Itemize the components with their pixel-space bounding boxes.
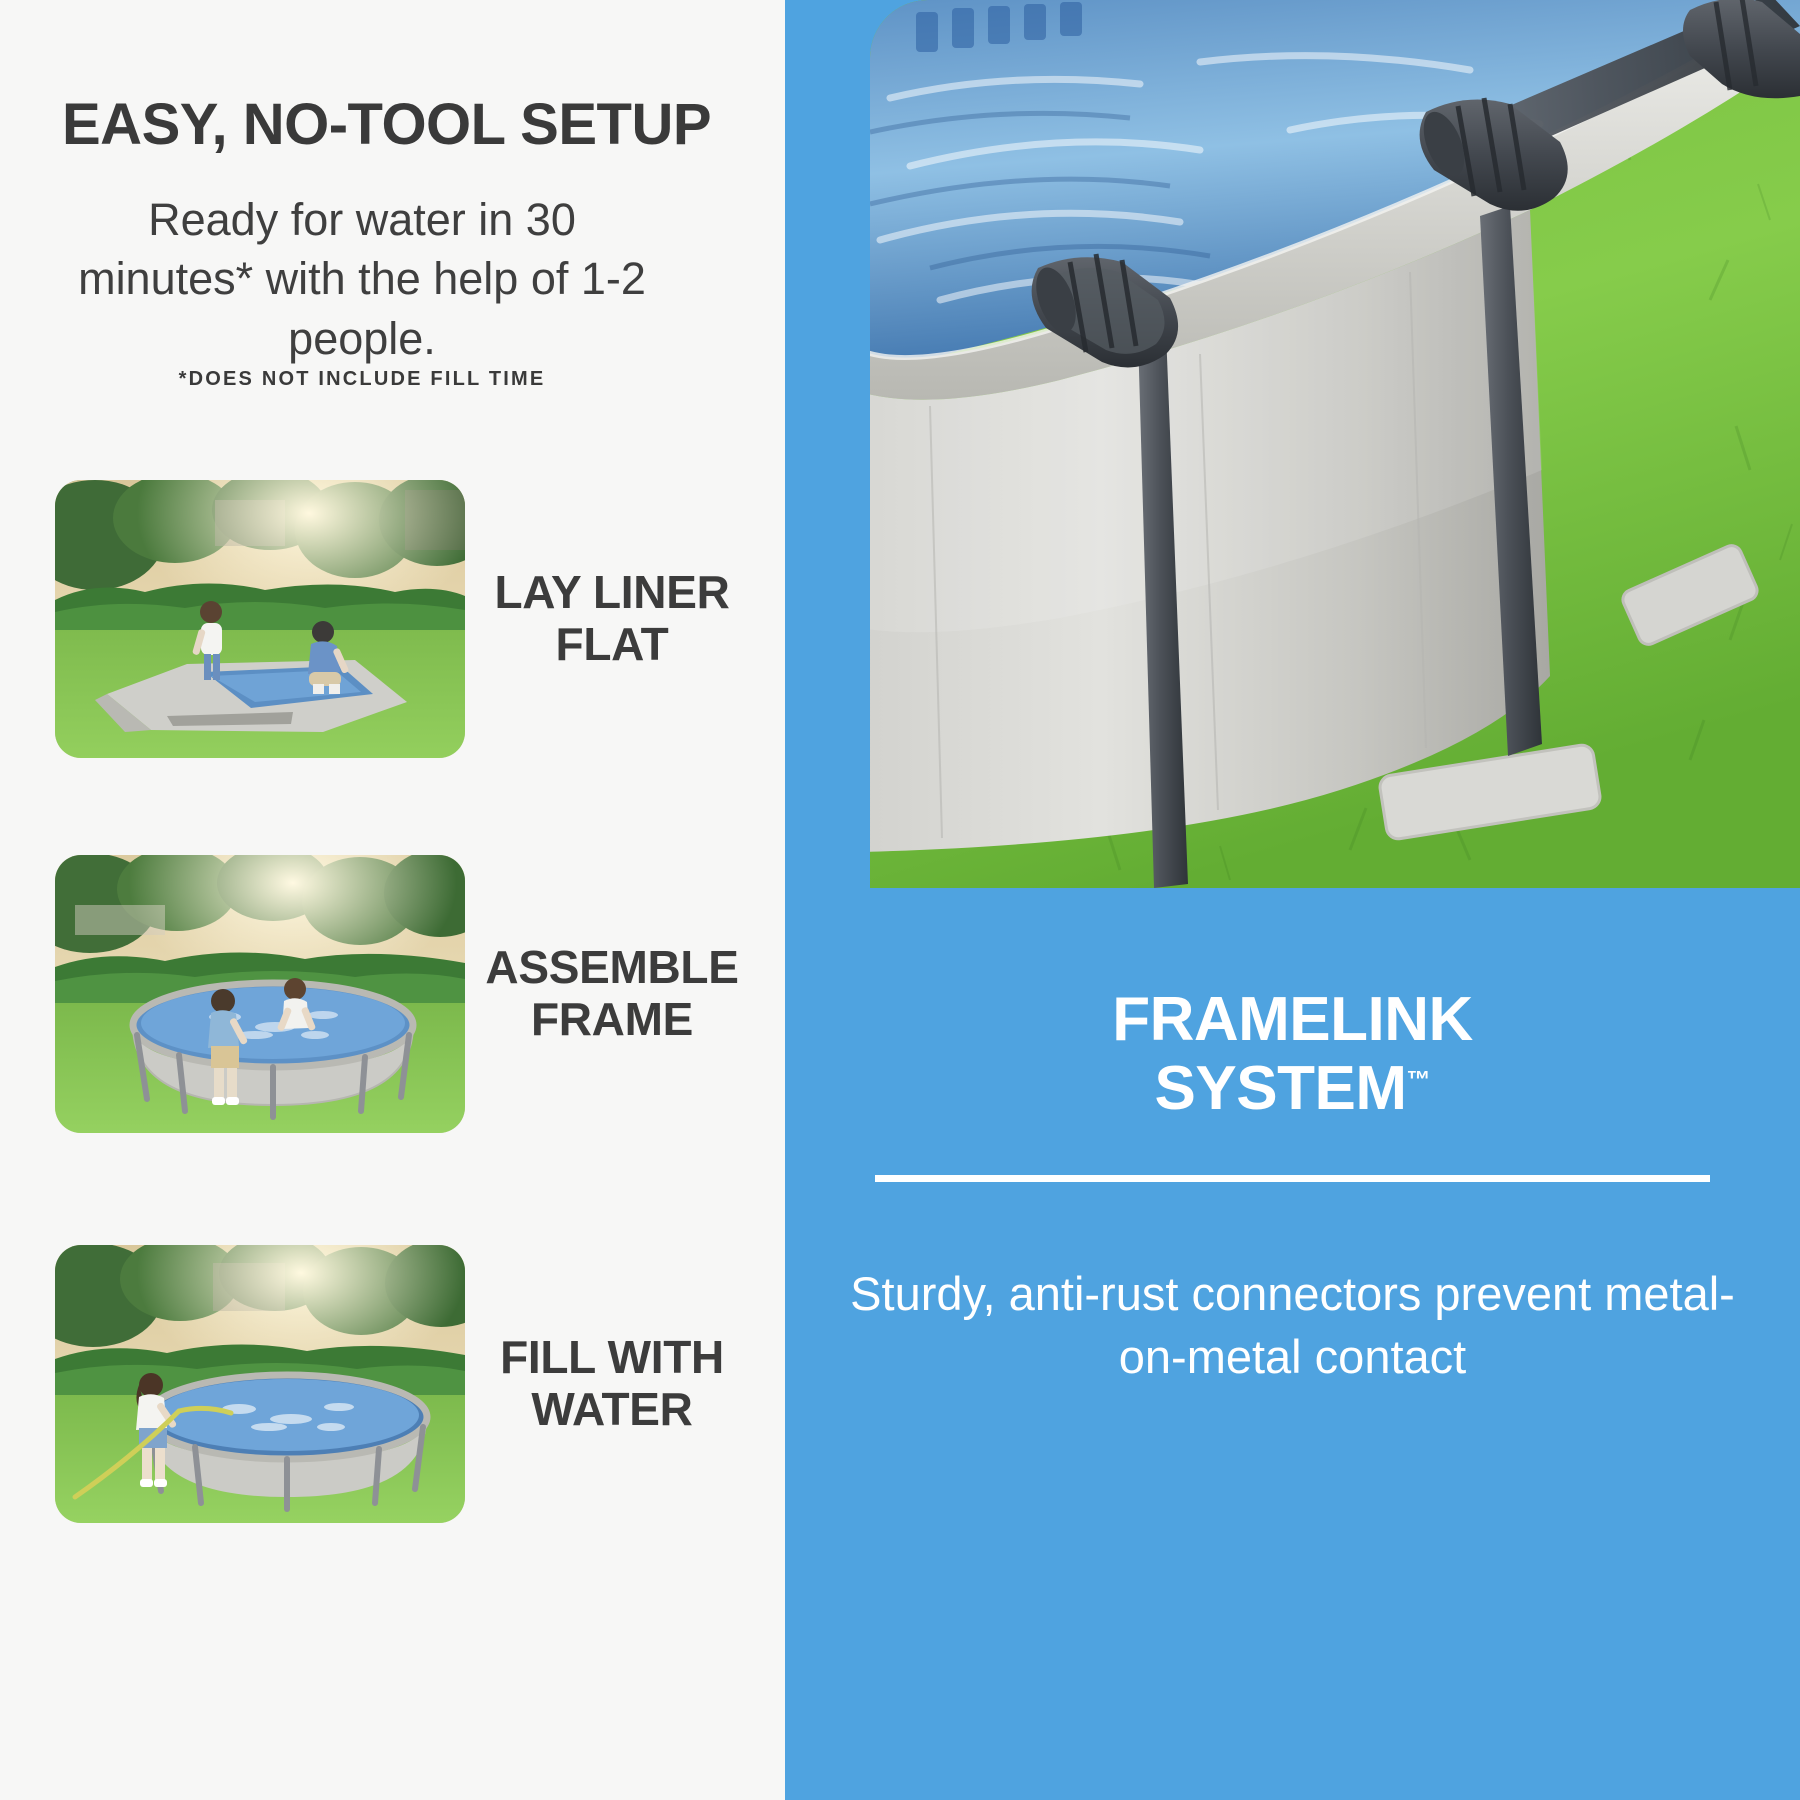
step-label-lay-liner-flat: LAY LINER FLAT <box>465 567 755 670</box>
step-item-assemble-frame: ASSEMBLE FRAME <box>55 855 755 1133</box>
step-label-assemble-frame: ASSEMBLE FRAME <box>465 942 755 1045</box>
step-item-lay-liner-flat: LAY LINER FLAT <box>55 480 755 758</box>
divider-rule <box>875 1175 1710 1182</box>
left-panel: EASY, NO-TOOL SETUP Ready for water in 3… <box>0 0 785 1800</box>
step-label-line1: FILL WITH <box>500 1331 724 1383</box>
step-thumbnail-fill-with-water <box>55 1245 465 1523</box>
page-title: EASY, NO-TOOL SETUP <box>62 95 711 156</box>
subtitle: Ready for water in 30 minutes* with the … <box>62 190 662 368</box>
feature-title-line1: FRAMELINK <box>1112 985 1473 1054</box>
step-label-line2: WATER <box>531 1383 692 1435</box>
step-thumbnail-assemble-frame <box>55 855 465 1133</box>
step-label-fill-with-water: FILL WITH WATER <box>465 1332 755 1435</box>
trademark-symbol: ™ <box>1406 1067 1430 1094</box>
feature-description: Sturdy, anti-rust connectors prevent met… <box>825 1262 1760 1389</box>
step-label-line1: LAY LINER <box>494 566 729 618</box>
step-item-fill-with-water: FILL WITH WATER <box>55 1245 755 1523</box>
footnote-disclaimer: *DOES NOT INCLUDE FILL TIME <box>62 368 662 391</box>
hero-image-framelink-connector <box>870 0 1800 888</box>
step-thumbnail-lay-liner-flat <box>55 480 465 758</box>
infographic-page: EASY, NO-TOOL SETUP Ready for water in 3… <box>0 0 1800 1800</box>
step-label-line2: FRAME <box>531 993 693 1045</box>
feature-title-line2: SYSTEM <box>1155 1054 1407 1123</box>
feature-title: FRAMELINK SYSTEM™ <box>785 985 1800 1124</box>
right-panel: FRAMELINK SYSTEM™ Sturdy, anti-rust conn… <box>785 0 1800 1800</box>
step-label-line1: ASSEMBLE <box>485 941 738 993</box>
step-label-line2: FLAT <box>556 618 669 670</box>
